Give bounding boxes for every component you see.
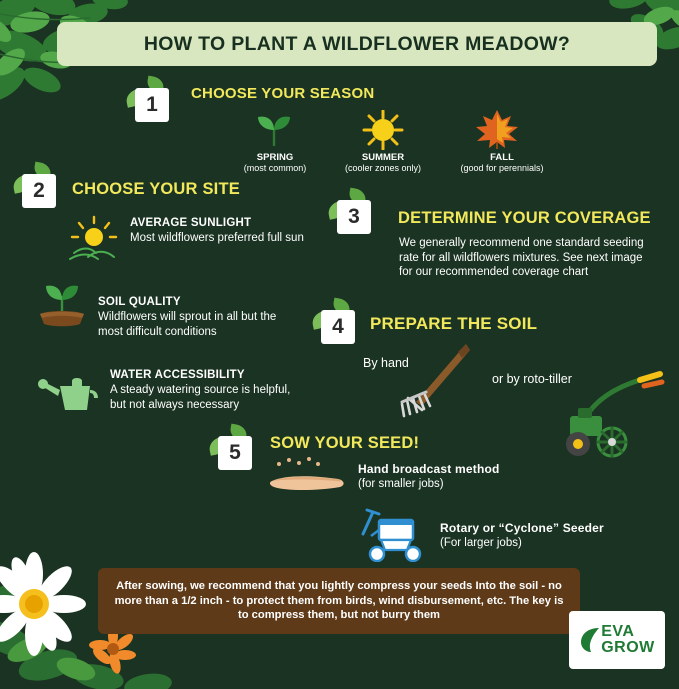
rake-icon [396,340,480,424]
step-5-number: 5 [218,436,252,470]
step-4-badge: 4 [317,306,355,344]
bottom-callout-text: After sowing, we recommend that you ligh… [98,579,580,624]
step-4-title: PREPARE THE SOIL [370,314,537,334]
maple-leaf-icon [473,108,521,150]
hand-broadcast-note: (for smaller jobs) [358,477,548,492]
step-2-badge: 2 [18,170,56,208]
step-3-text: We generally recommend one standard seed… [399,236,649,280]
step-3-badge: 3 [333,196,371,234]
step-1-number: 1 [135,88,169,122]
hand-broadcast-icon [266,455,352,495]
page-title: HOW TO PLANT A WILDFLOWER MEADOW? [144,33,570,56]
watering-can-icon [38,372,100,418]
water-access-title: WATER ACCESSIBILITY [110,369,245,381]
soil-quality-text: Wildflowers will sprout in all but the m… [98,310,288,339]
seedling-icon [253,112,295,148]
infographic-canvas: HOW TO PLANT A WILDFLOWER MEADOW? 1 CHOO… [0,0,679,679]
step-5-badge: 5 [214,432,252,470]
brand-logo: EVA GROW [569,611,665,669]
step-1-badge: 1 [131,84,169,122]
step-1-title: CHOOSE YOUR SEASON [191,85,374,102]
season-fall-label: FALL (good for perennials) [447,152,557,173]
sprout-soil-icon [34,278,90,328]
rotary-seeder-title: Rotary or “Cyclone” Seeder [440,521,604,535]
seed-spreader-icon [353,506,435,562]
hand-broadcast-title: Hand broadcast method [358,462,500,476]
season-summer-label: SUMMER (cooler zones only) [333,152,433,173]
season-spring-label: SPRING (most common) [232,152,318,173]
step-2-title: CHOOSE YOUR SITE [72,180,240,199]
step-5-title: SOW YOUR SEED! [270,434,419,453]
sunlight-text: Most wildflowers preferred full sun [130,231,310,246]
step-3-title: DETERMINE YOUR COVERAGE [398,209,651,228]
step-2-number: 2 [22,174,56,208]
step-3-number: 3 [337,200,371,234]
leaf-logo-icon [579,625,601,655]
brand-logo-text: EVA GROW [601,624,655,656]
rotary-seeder-note: (For larger jobs) [440,536,630,551]
water-access-text: A steady watering source is helpful, but… [110,383,300,412]
soil-quality-title: SOIL QUALITY [98,296,181,308]
bottom-callout: After sowing, we recommend that you ligh… [98,568,580,634]
sun-icon [360,110,406,150]
roto-tiller-icon [548,364,666,462]
sunlight-title: AVERAGE SUNLIGHT [130,217,251,229]
sunlight-icon [66,215,122,263]
page-title-band: HOW TO PLANT A WILDFLOWER MEADOW? [57,22,657,66]
step-4-number: 4 [321,310,355,344]
